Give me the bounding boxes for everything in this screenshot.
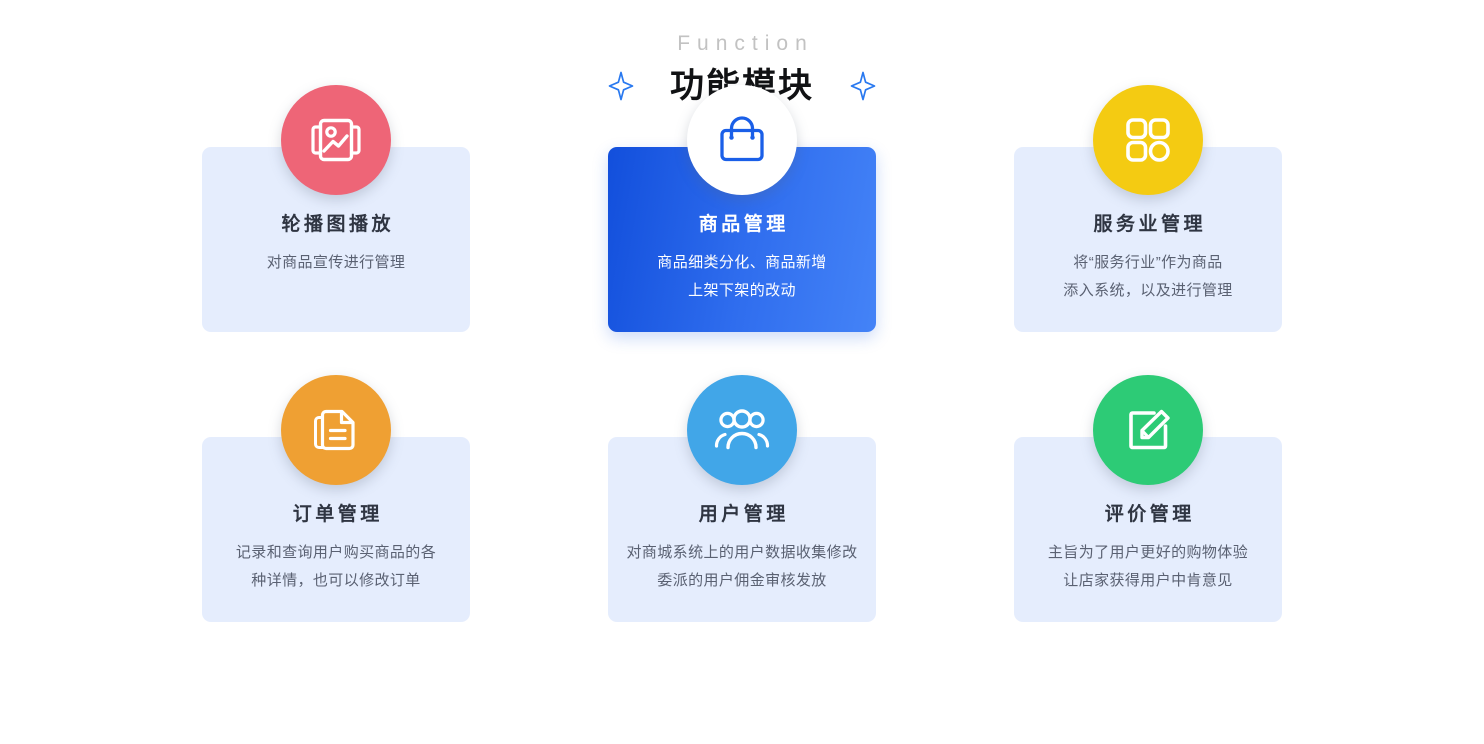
edit-square-icon	[1121, 403, 1175, 457]
users-group-icon-badge	[687, 375, 797, 485]
feature-card-desc: 记录和查询用户购买商品的各 种详情，也可以修改订单	[202, 539, 470, 595]
image-gallery-icon-badge	[281, 85, 391, 195]
feature-card-desc: 对商城系统上的用户数据收集修改 委派的用户佣金审核发放	[608, 539, 876, 595]
shopping-bag-icon	[715, 113, 769, 167]
document-copy-icon-badge	[281, 375, 391, 485]
feature-card-carousel[interactable]: 轮播图播放 对商品宣传进行管理	[202, 147, 470, 332]
feature-card-desc-line: 对商城系统上的用户数据收集修改	[616, 539, 868, 567]
feature-card-grid: 轮播图播放 对商品宣传进行管理 商品管理 商品细类分化、商品新增 上架下架的改动	[180, 107, 1304, 622]
feature-card-desc-line: 种详情，也可以修改订单	[210, 567, 462, 595]
feature-card-title: 订单管理	[202, 504, 470, 527]
feature-card-desc-line: 将“服务行业”作为商品	[1022, 249, 1274, 277]
feature-card-order[interactable]: 订单管理 记录和查询用户购买商品的各 种详情，也可以修改订单	[202, 437, 470, 622]
feature-card-desc: 主旨为了用户更好的购物体验 让店家获得用户中肯意见	[1014, 539, 1282, 595]
feature-card-user[interactable]: 用户管理 对商城系统上的用户数据收集修改 委派的用户佣金审核发放	[608, 437, 876, 622]
sparkle-icon	[608, 71, 634, 101]
feature-card-service[interactable]: 服务业管理 将“服务行业”作为商品 添入系统，以及进行管理	[1014, 147, 1282, 332]
feature-card-desc-line: 主旨为了用户更好的购物体验	[1022, 539, 1274, 567]
feature-card-title: 评价管理	[1014, 504, 1282, 527]
shopping-bag-icon-badge	[687, 85, 797, 195]
feature-card-title: 服务业管理	[1014, 214, 1282, 237]
document-copy-icon	[309, 403, 363, 457]
feature-card-desc-line: 商品细类分化、商品新增	[616, 249, 868, 277]
feature-card-desc-line: 上架下架的改动	[616, 277, 868, 305]
image-gallery-icon	[307, 112, 365, 168]
feature-card-title: 轮播图播放	[202, 214, 470, 237]
feature-card-desc: 对商品宣传进行管理	[202, 249, 470, 277]
feature-card-desc-line: 让店家获得用户中肯意见	[1022, 567, 1274, 595]
feature-card-desc-line: 添入系统，以及进行管理	[1022, 277, 1274, 305]
feature-card-desc-line: 记录和查询用户购买商品的各	[210, 539, 462, 567]
feature-card-desc: 将“服务行业”作为商品 添入系统，以及进行管理	[1014, 249, 1282, 305]
feature-card-review[interactable]: 评价管理 主旨为了用户更好的购物体验 让店家获得用户中肯意见	[1014, 437, 1282, 622]
users-group-icon	[713, 404, 771, 456]
sparkle-icon	[850, 71, 876, 101]
feature-card-title: 商品管理	[608, 214, 876, 237]
feature-card-title: 用户管理	[608, 504, 876, 527]
section-eyebrow: Function	[0, 32, 1484, 55]
feature-card-desc-line: 对商品宣传进行管理	[210, 249, 462, 277]
edit-square-icon-badge	[1093, 375, 1203, 485]
feature-card-desc: 商品细类分化、商品新增 上架下架的改动	[608, 249, 876, 305]
feature-card-product[interactable]: 商品管理 商品细类分化、商品新增 上架下架的改动	[608, 147, 876, 332]
grid-apps-icon	[1122, 114, 1174, 166]
feature-card-desc-line: 委派的用户佣金审核发放	[616, 567, 868, 595]
grid-apps-icon-badge	[1093, 85, 1203, 195]
